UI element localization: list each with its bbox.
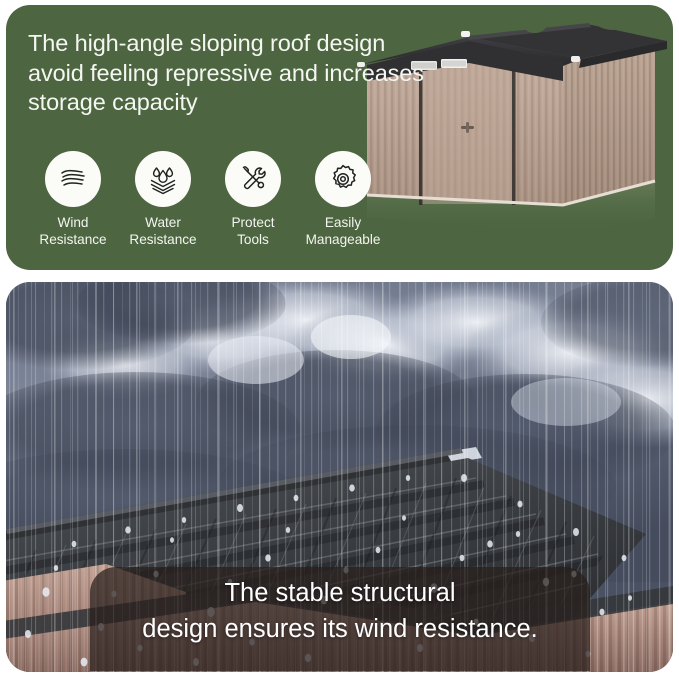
feature-item-manageable: Easily Manageable bbox=[298, 151, 388, 248]
wind-icon bbox=[45, 151, 101, 207]
water-drop-icon bbox=[135, 151, 191, 207]
panel-heading: The high-angle sloping roof design avoid… bbox=[28, 29, 448, 118]
feature-icon-row: Wind Resistance Water bbox=[28, 151, 448, 248]
feature-label: Water Resistance bbox=[129, 214, 196, 248]
feature-label: Wind Resistance bbox=[39, 214, 106, 248]
product-feature-graphic: The high-angle sloping roof design avoid… bbox=[0, 0, 679, 677]
top-feature-panel: The high-angle sloping roof design avoid… bbox=[6, 5, 673, 270]
feature-item-water: Water Resistance bbox=[118, 151, 208, 248]
caption-text: The stable structural design ensures its… bbox=[90, 575, 590, 647]
feature-label: Easily Manageable bbox=[306, 214, 381, 248]
gear-icon bbox=[315, 151, 371, 207]
tools-icon bbox=[225, 151, 281, 207]
feature-item-tools: Protect Tools bbox=[208, 151, 298, 248]
bottom-photo-panel: The stable structural design ensures its… bbox=[6, 282, 673, 672]
feature-item-wind: Wind Resistance bbox=[28, 151, 118, 248]
feature-label: Protect Tools bbox=[231, 214, 274, 248]
